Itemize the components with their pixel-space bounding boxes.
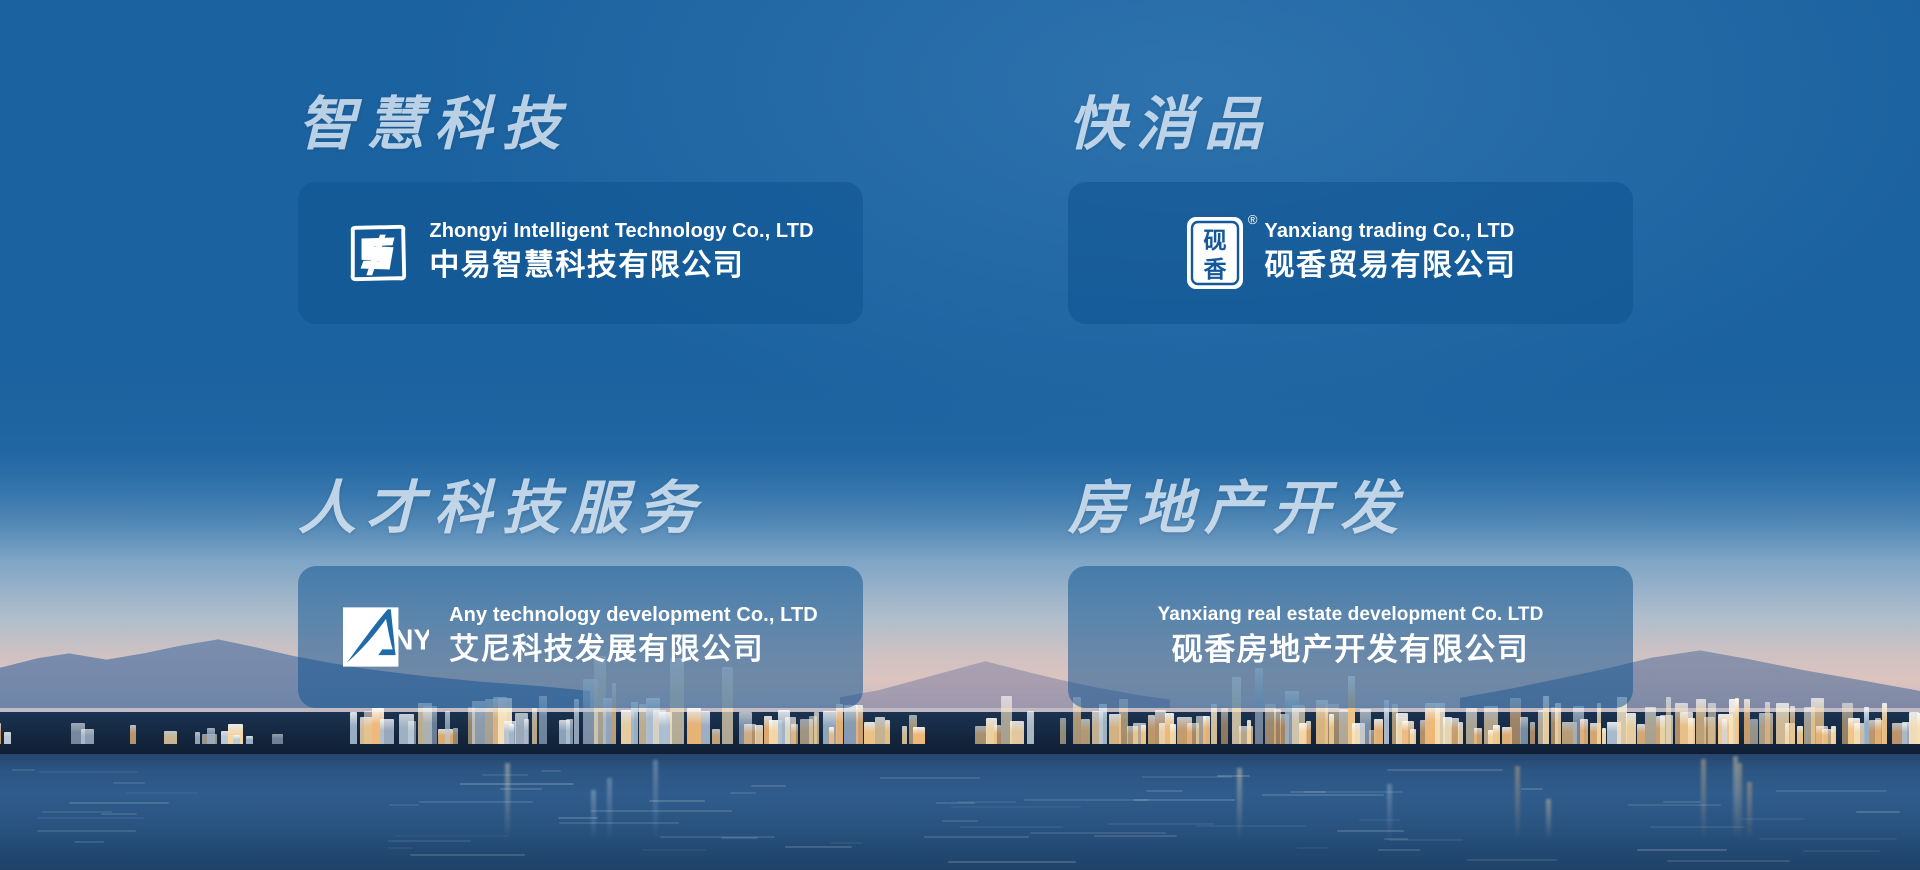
section-heading: 房地产开发 xyxy=(1068,480,1633,538)
company-card-yanxiang-trading[interactable]: 砚 香 ® Yanxiang trading Co., LTD 砚香贸易有限公司 xyxy=(1068,182,1633,324)
company-name-cn: 艾尼科技发展有限公司 xyxy=(449,630,818,671)
company-names: Yanxiang real estate development Co. LTD… xyxy=(1158,603,1544,671)
section-talent-services: 人才科技服务 NY Any technology development Co.… xyxy=(298,480,863,708)
company-card-yanxiang-realestate[interactable]: Yanxiang real estate development Co. LTD… xyxy=(1068,566,1633,708)
any-mountain-logo-icon: NY xyxy=(343,606,429,668)
company-name-en: Yanxiang real estate development Co. LTD xyxy=(1158,603,1544,627)
section-heading: 快消品 xyxy=(1068,96,1633,154)
any-logo-text: NY xyxy=(393,624,429,656)
registered-trademark-icon: ® xyxy=(1248,213,1258,226)
seal-char-bottom: 香 xyxy=(1203,257,1227,283)
logo-wrap: NY xyxy=(343,606,429,668)
company-names: Yanxiang trading Co., LTD 砚香贸易有限公司 xyxy=(1265,219,1517,287)
company-name-en: Yanxiang trading Co., LTD xyxy=(1265,219,1517,244)
section-smart-technology: 智慧科技 Zhongyi Intelligent Technology Co.,… xyxy=(298,96,863,324)
company-name-cn: 中易智慧科技有限公司 xyxy=(429,246,813,287)
yanxiang-seal-logo-icon: 砚 香 ® xyxy=(1185,215,1245,291)
company-name-en: Zhongyi Intelligent Technology Co., LTD xyxy=(429,219,813,244)
company-name-cn: 砚香贸易有限公司 xyxy=(1265,246,1517,287)
company-name-en: Any technology development Co., LTD xyxy=(449,603,818,628)
company-name-cn: 砚香房地产开发有限公司 xyxy=(1172,629,1530,671)
section-heading: 人才科技服务 xyxy=(298,480,863,538)
content-layer: 智慧科技 Zhongyi Intelligent Technology Co.,… xyxy=(0,0,1920,870)
section-real-estate: 房地产开发 Yanxiang real estate development C… xyxy=(1068,480,1633,708)
zhongyi-z-logo-icon xyxy=(347,222,409,284)
seal-char-top: 砚 xyxy=(1203,228,1226,254)
logo-wrap xyxy=(347,222,409,284)
section-fmcg: 快消品 砚 香 ® Yanxiang trading Co., LTD 砚香贸易… xyxy=(1068,96,1633,324)
company-names: Any technology development Co., LTD 艾尼科技… xyxy=(449,603,818,671)
logo-wrap: 砚 香 ® xyxy=(1185,215,1245,291)
company-card-any[interactable]: NY Any technology development Co., LTD 艾… xyxy=(298,566,863,708)
company-card-zhongyi[interactable]: Zhongyi Intelligent Technology Co., LTD … xyxy=(298,182,863,324)
section-heading: 智慧科技 xyxy=(298,96,863,154)
company-names: Zhongyi Intelligent Technology Co., LTD … xyxy=(429,219,813,287)
